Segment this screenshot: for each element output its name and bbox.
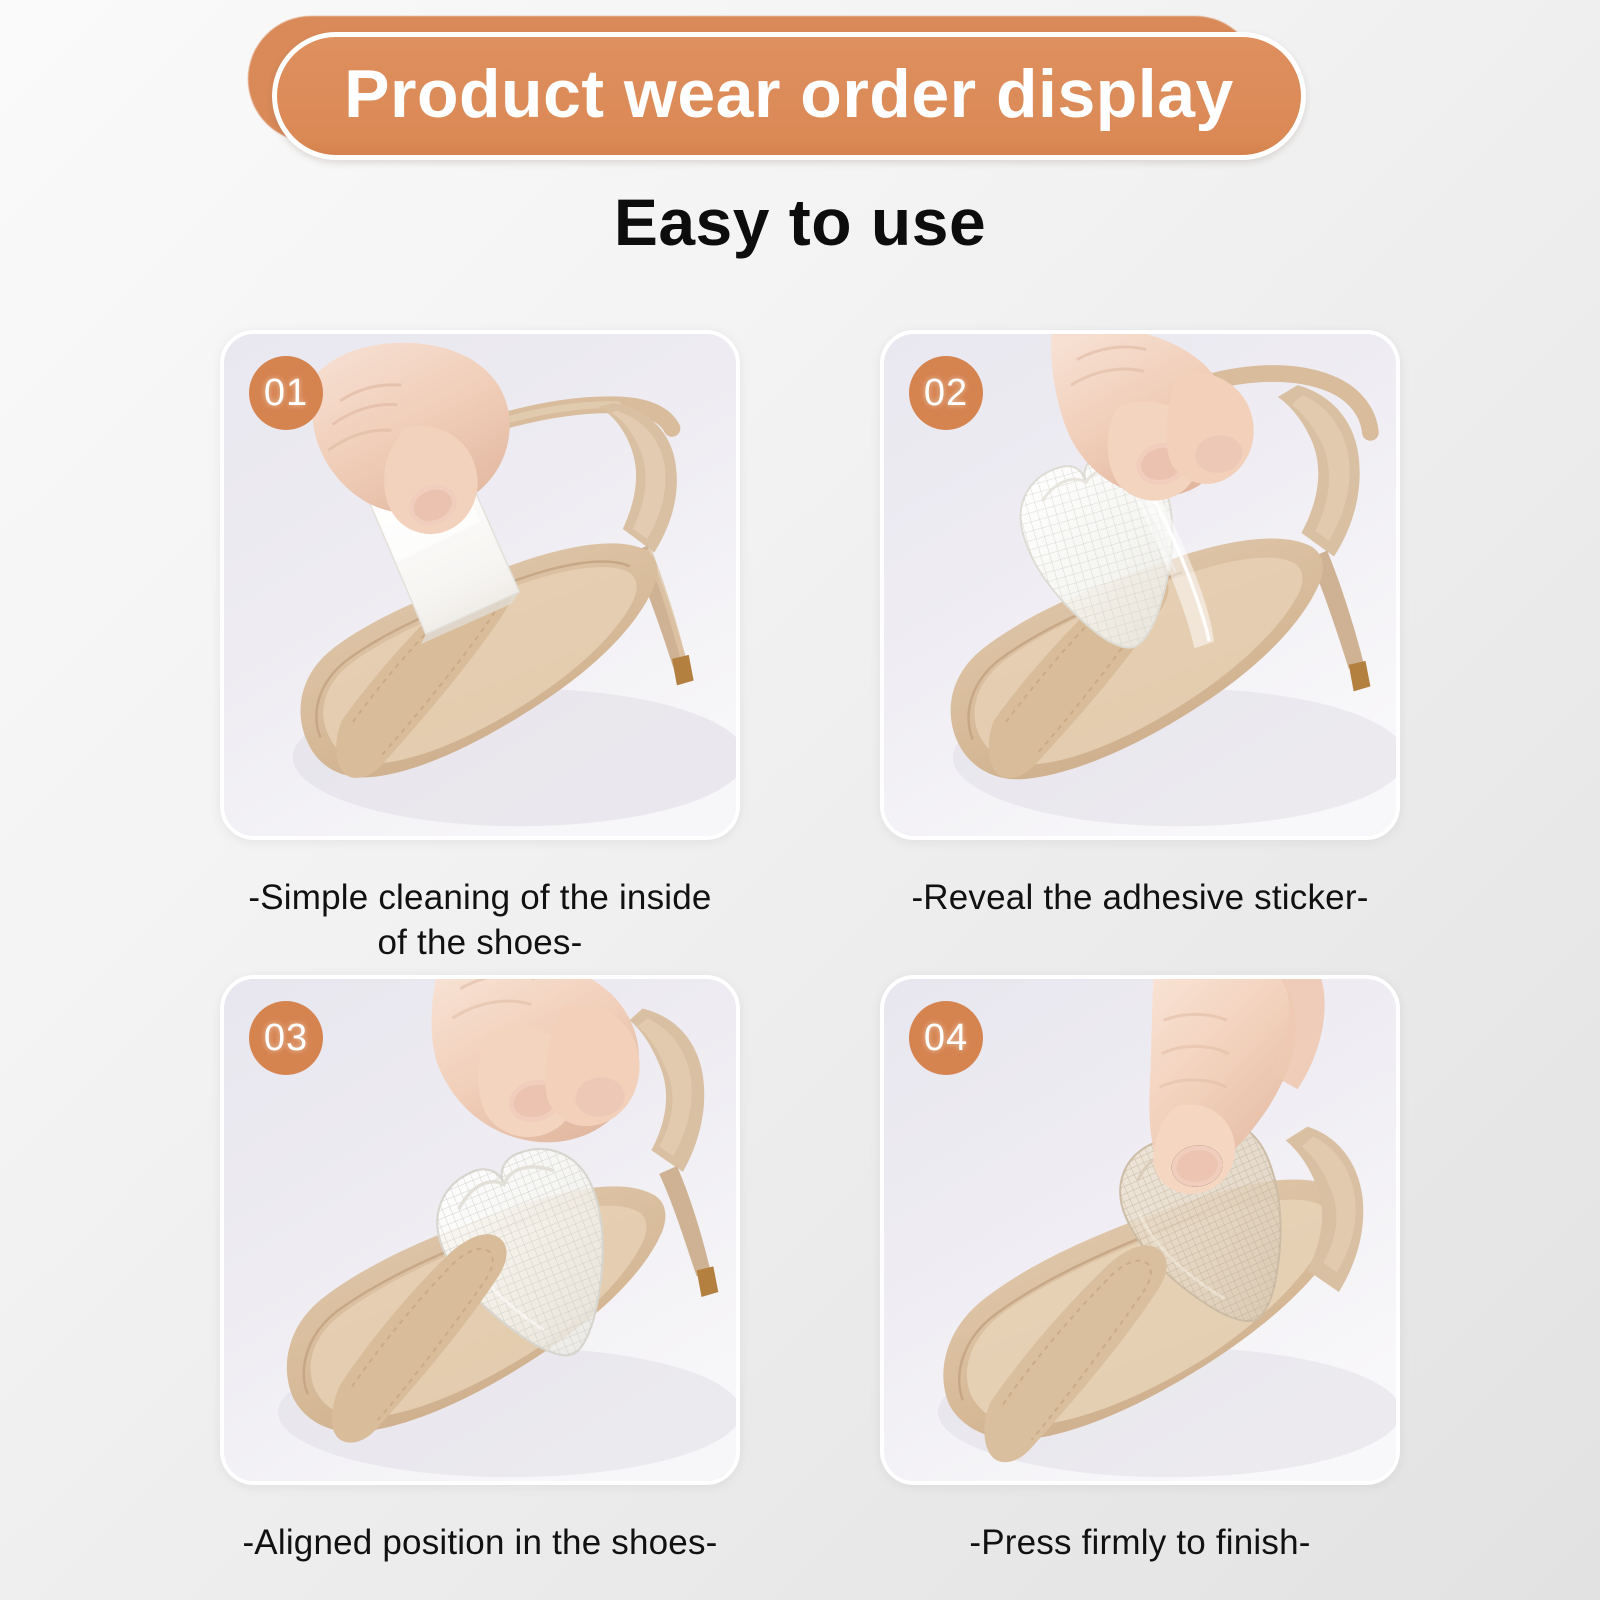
step-caption-02-line1: -Reveal the adhesive sticker-: [880, 876, 1400, 921]
step-caption-03: -Aligned position in the shoes-: [220, 1521, 740, 1566]
step-number-badge-04: 04: [909, 1001, 983, 1075]
step-caption-01-line1: -Simple cleaning of the inside: [220, 876, 740, 921]
step-caption-03-line1: -Aligned position in the shoes-: [220, 1521, 740, 1566]
step-card-01: 01: [220, 330, 740, 966]
step-number-badge-03: 03: [249, 1001, 323, 1075]
step-card-02: 02: [880, 330, 1400, 921]
step-photo-03: 03: [220, 975, 740, 1485]
step-caption-04: -Press firmly to finish-: [880, 1521, 1400, 1566]
step-caption-01: -Simple cleaning of the inside of the sh…: [220, 876, 740, 966]
step-photo-04: 04: [880, 975, 1400, 1485]
step-card-04: 04: [880, 975, 1400, 1566]
step-number-badge-01: 01: [249, 356, 323, 430]
step-card-03: 03: [220, 975, 740, 1566]
steps-grid: 01: [0, 0, 1600, 1600]
step-photo-01: 01: [220, 330, 740, 840]
step-number-badge-02: 02: [909, 356, 983, 430]
step-photo-02: 02: [880, 330, 1400, 840]
step-caption-02: -Reveal the adhesive sticker-: [880, 876, 1400, 921]
step-caption-01-line2: of the shoes-: [220, 921, 740, 966]
step-caption-04-line1: -Press firmly to finish-: [880, 1521, 1400, 1566]
product-instruction-infographic: Product wear order display Easy to use 0…: [0, 0, 1600, 1600]
